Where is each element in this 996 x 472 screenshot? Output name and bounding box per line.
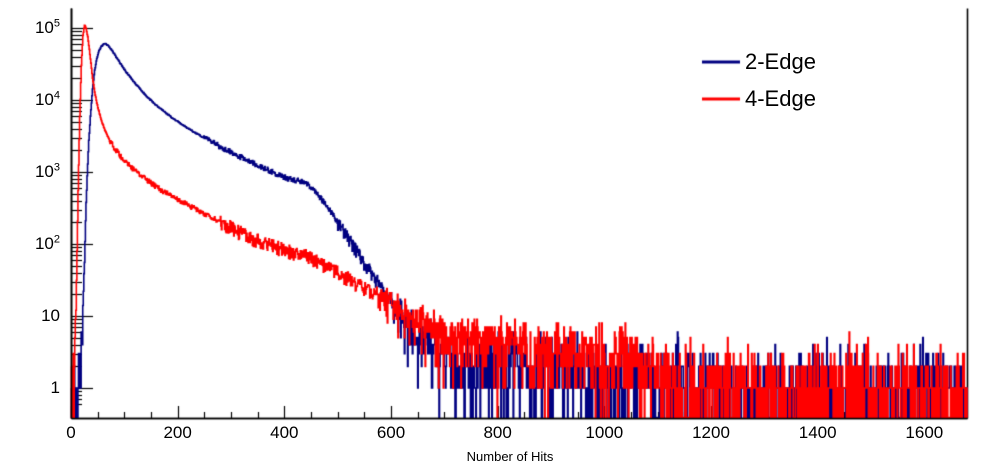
x-tick-label-1600: 1600 xyxy=(905,423,943,443)
x-tick-label-600: 600 xyxy=(377,423,405,443)
y-tick-label-10: 10 xyxy=(10,306,60,326)
x-tick-label-200: 200 xyxy=(163,423,191,443)
x-tick-label-800: 800 xyxy=(483,423,511,443)
histogram-canvas xyxy=(0,0,996,472)
legend-label-4-edge: 4-Edge xyxy=(745,86,816,112)
x-tick-label-400: 400 xyxy=(270,423,298,443)
x-axis-title: Number of Hits xyxy=(467,449,554,464)
y-tick-label-1000: 103 xyxy=(10,162,60,182)
y-tick-label-100: 102 xyxy=(10,234,60,254)
x-tick-label-1400: 1400 xyxy=(799,423,837,443)
x-tick-label-1200: 1200 xyxy=(692,423,730,443)
y-tick-label-10000: 104 xyxy=(10,90,60,110)
legend-label-2-edge: 2-Edge xyxy=(745,49,816,75)
chart-root: 1 10 102 103 104 105 0200400600800100012… xyxy=(0,0,996,472)
x-tick-label-0: 0 xyxy=(66,423,75,443)
x-tick-label-1000: 1000 xyxy=(585,423,623,443)
y-tick-label-1: 1 xyxy=(10,378,60,398)
y-tick-label-100000: 105 xyxy=(10,18,60,38)
